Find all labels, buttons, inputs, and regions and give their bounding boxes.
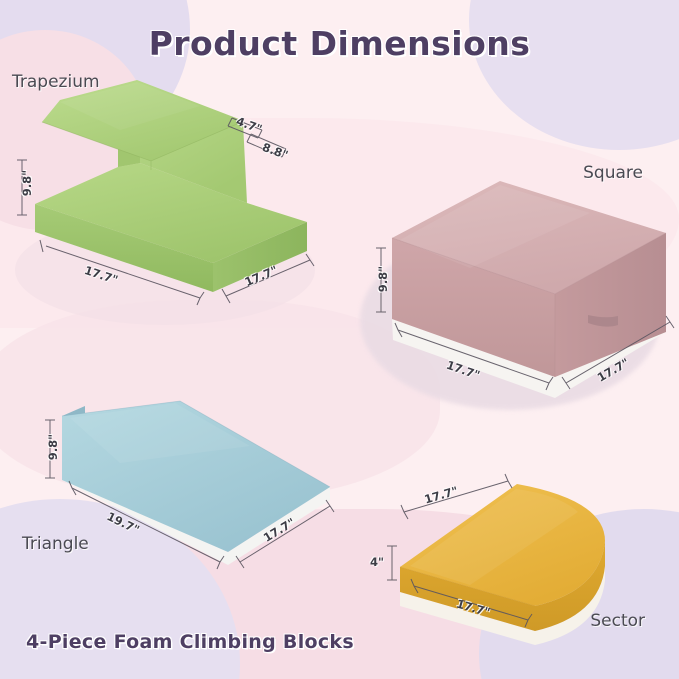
shape-label-sector: Sector <box>590 611 645 631</box>
dimension-triangle-height: 9.8" <box>46 434 60 460</box>
page-title: Product Dimensions <box>0 24 679 63</box>
dimension-sector-height: 4" <box>370 555 384 569</box>
background-blob-top-right <box>469 0 679 150</box>
shape-label-trapezium: Trapezium <box>12 72 100 92</box>
footer-caption: 4-Piece Foam Climbing Blocks <box>26 631 354 653</box>
square-shadow <box>360 230 660 410</box>
shape-label-square: Square <box>583 163 643 183</box>
dimension-trapezium-height: 9.8" <box>20 170 34 196</box>
dimension-sector-top: 17.7" <box>423 484 460 507</box>
dimension-square-height: 9.8" <box>376 266 390 292</box>
shape-label-triangle: Triangle <box>22 534 89 554</box>
product-dimensions-image: Product Dimensions 4-Piece Foam Climbing… <box>0 0 679 679</box>
